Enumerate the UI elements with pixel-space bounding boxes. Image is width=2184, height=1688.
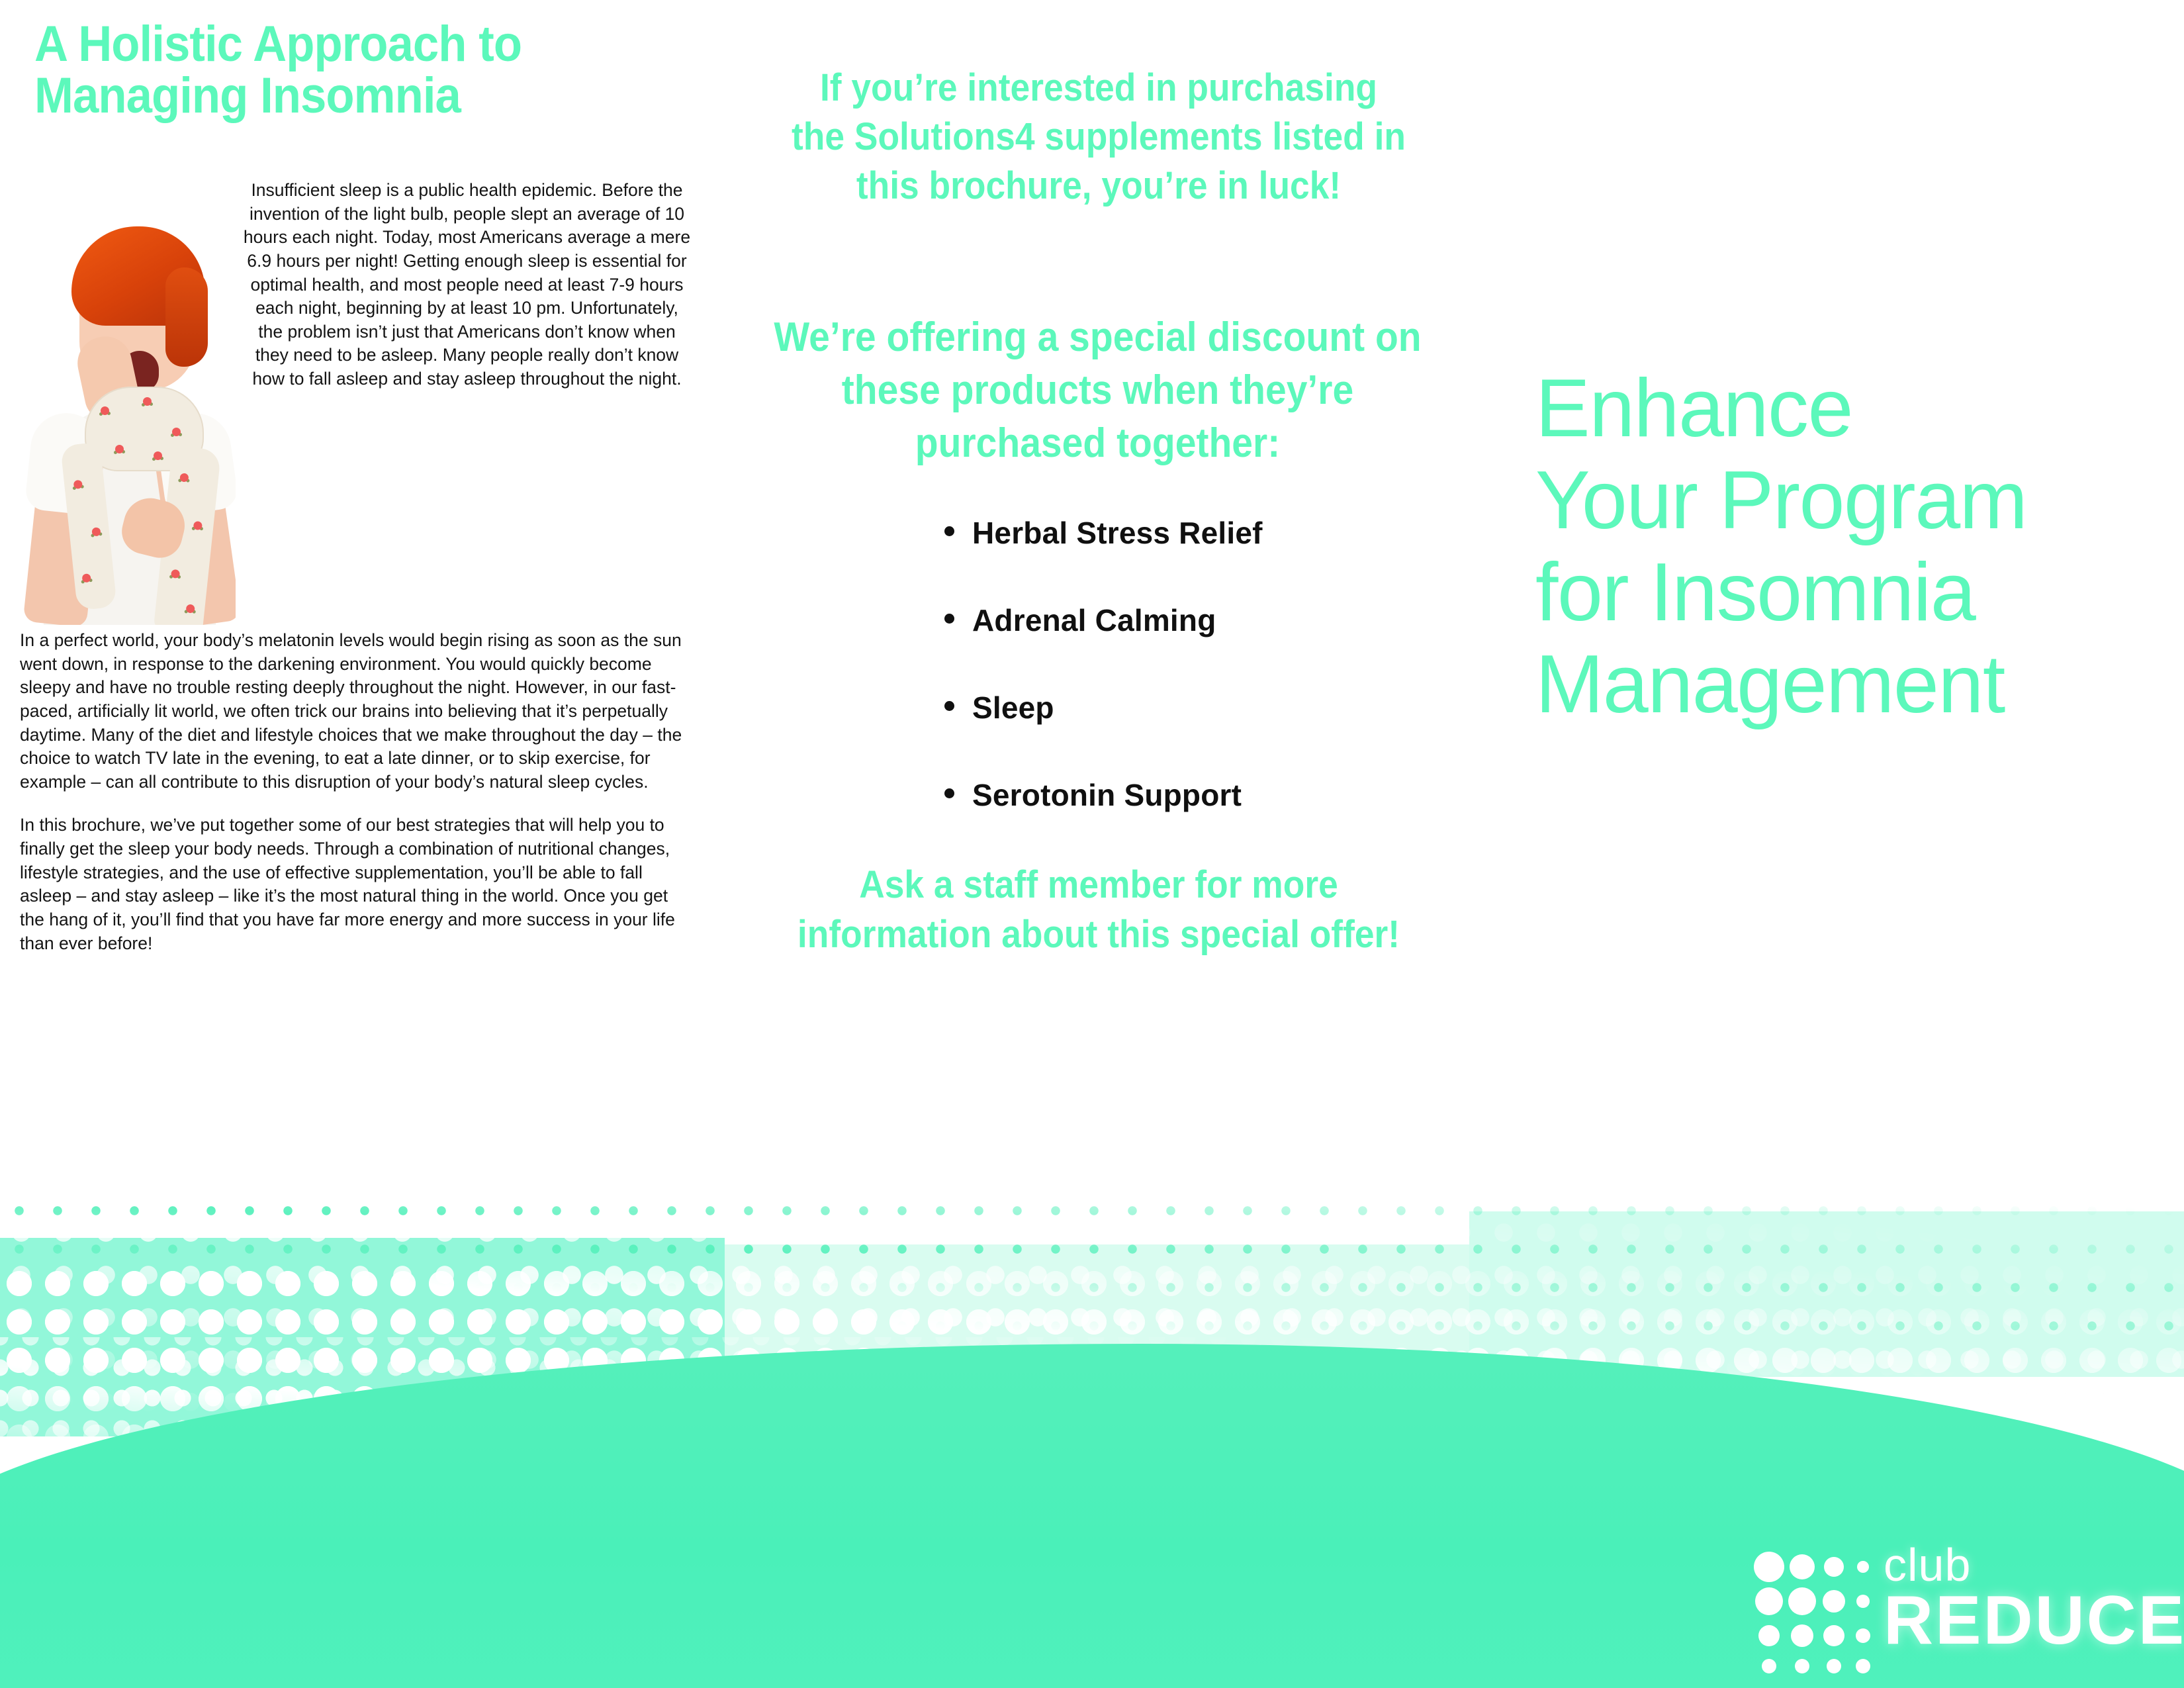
list-item: Serotonin Support	[943, 777, 1446, 813]
panel-left: A Holistic Approach to Managing Insomnia	[0, 0, 725, 1688]
left-title-line-1: A Holistic Approach to	[34, 19, 650, 70]
list-item: Sleep	[943, 690, 1446, 726]
product-label: Sleep	[972, 690, 1054, 725]
logo-wordmark: club REDUCE	[1884, 1542, 2184, 1653]
product-list: Herbal Stress Relief Adrenal Calming Sle…	[943, 515, 1446, 865]
left-paragraph-3: In this brochure, we’ve put together som…	[0, 814, 725, 955]
cover-title: Enhance Your Program for Insomnia Manage…	[1535, 363, 2171, 731]
left-panel-body: Insufficient sleep is a public health ep…	[0, 179, 725, 955]
product-label: Herbal Stress Relief	[972, 516, 1263, 550]
bullet-dot-icon	[944, 526, 954, 536]
panel-right: Enhance Your Program for Insomnia Manage…	[1469, 0, 2184, 1688]
brochure-page: A Holistic Approach to Managing Insomnia	[0, 0, 2184, 1688]
club-reduce-logo: club REDUCE	[1754, 1548, 2151, 1673]
product-label: Adrenal Calming	[972, 603, 1216, 637]
list-item: Adrenal Calming	[943, 602, 1446, 638]
logo-reduce-text: REDUCE	[1884, 1588, 2184, 1654]
logo-club-text: club	[1884, 1542, 2184, 1588]
bullet-dot-icon	[944, 701, 954, 711]
left-title-line-2: Managing Insomnia	[34, 70, 650, 122]
bullet-dot-icon	[944, 788, 954, 798]
list-item: Herbal Stress Relief	[943, 515, 1446, 551]
cover-title-line-2: Your Program	[1535, 455, 2171, 547]
cover-title-line-3: for Insomnia	[1535, 547, 2171, 639]
left-panel-title: A Holistic Approach to Managing Insomnia	[34, 19, 650, 121]
left-paragraph-2: In a perfect world, your body’s melatoni…	[0, 629, 725, 794]
offer-heading-intro: If you’re interested in purchasing the S…	[791, 64, 1406, 211]
offer-heading-callout: Ask a staff member for more information …	[791, 861, 1406, 960]
product-label: Serotonin Support	[972, 778, 1242, 812]
cover-title-line-1: Enhance	[1535, 363, 2171, 455]
panel-middle: If you’re interested in purchasing the S…	[725, 0, 1469, 1688]
logo-dot-grid-icon	[1754, 1552, 1868, 1665]
cover-title-line-4: Management	[1535, 639, 2171, 731]
woman-yawning-photo	[24, 188, 236, 625]
offer-heading-discount: We’re offering a special discount on the…	[770, 311, 1425, 470]
bullet-dot-icon	[944, 614, 954, 624]
